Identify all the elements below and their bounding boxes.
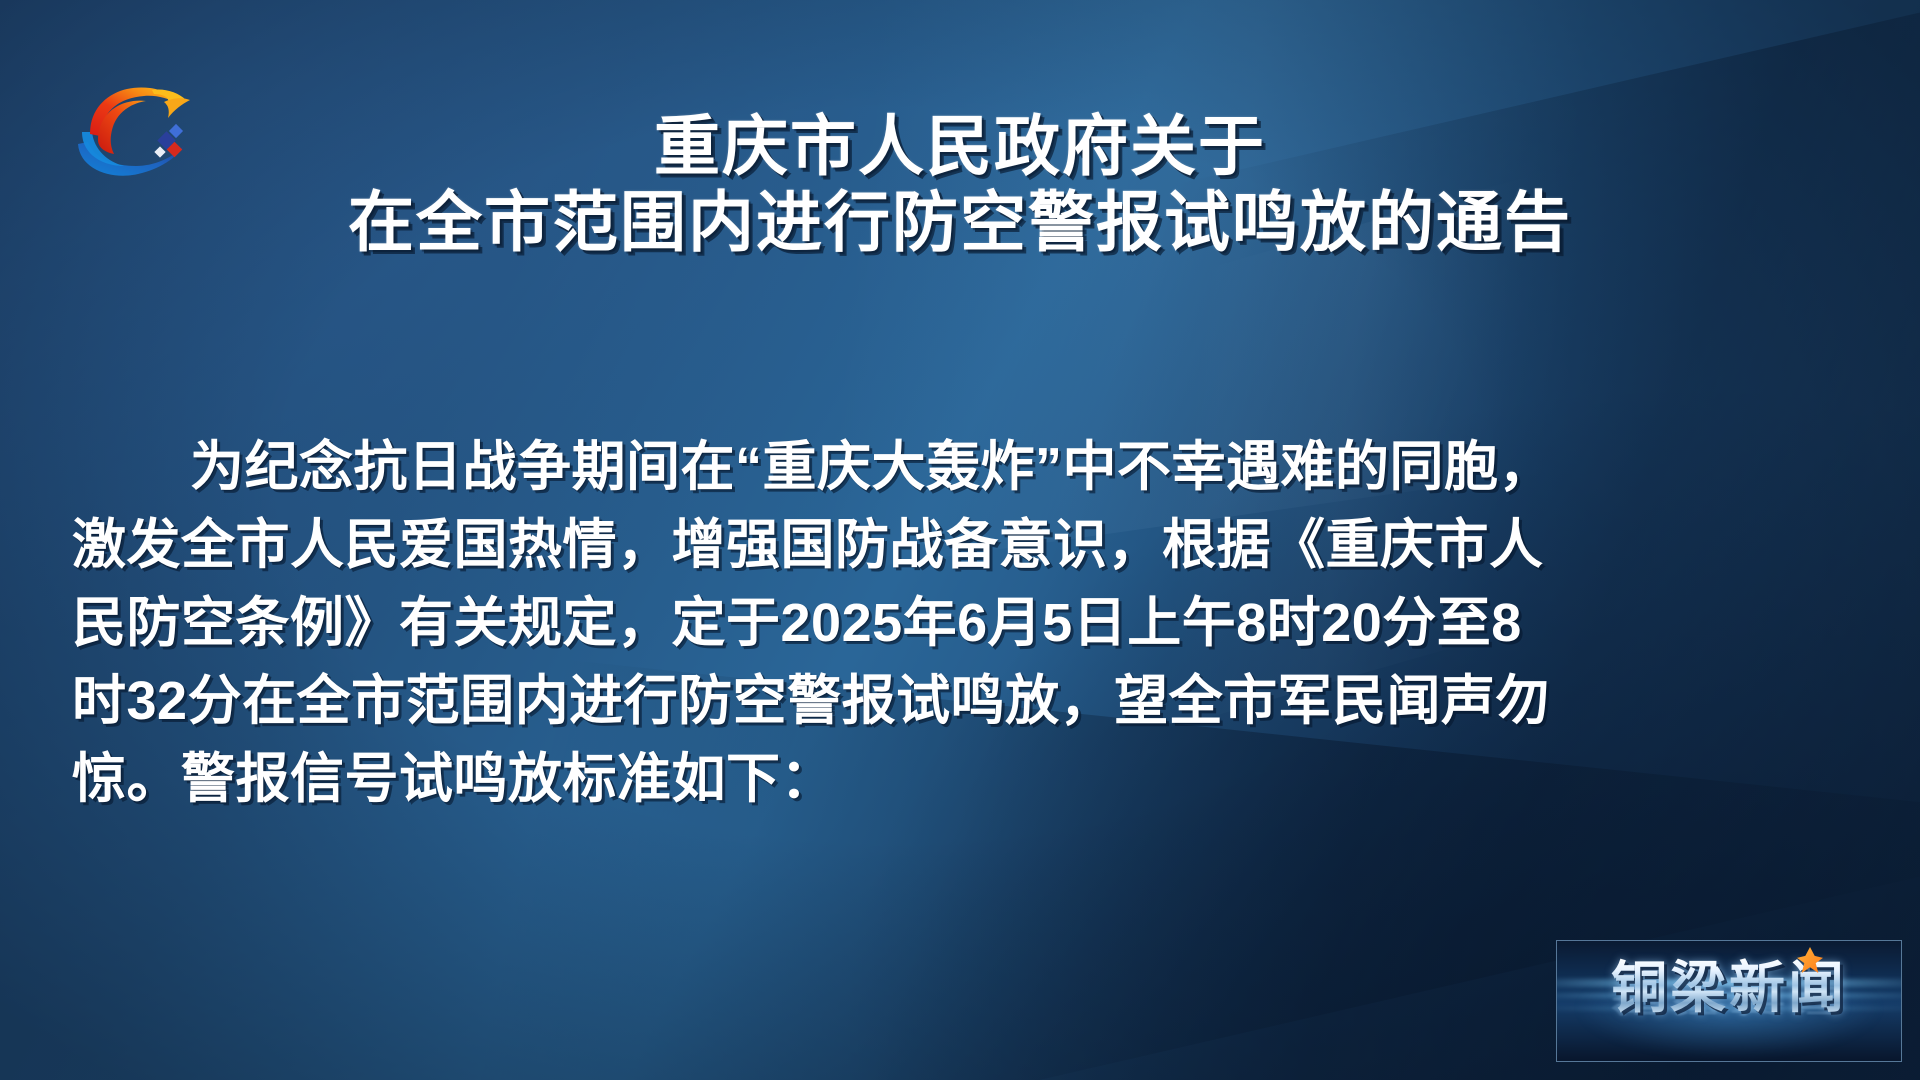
notice-line-4: 时32分在全市范围内进行防空警报试鸣放，望全市军民闻声勿 — [72, 662, 1862, 740]
notice-line-1: 为纪念抗日战争期间在“重庆大轰炸”中不幸遇难的同胞， — [72, 428, 1862, 506]
notice-line-2: 激发全市人民爱国热情，增强国防战备意识，根据《重庆市人 — [72, 506, 1862, 584]
title-line-1: 重庆市人民政府关于 — [0, 108, 1920, 184]
program-bug-label: 铜梁新闻 — [1557, 957, 1901, 1019]
program-bug: 铜梁新闻 铜梁新闻 — [1556, 940, 1902, 1062]
page-title: 重庆市人民政府关于 在全市范围内进行防空警报试鸣放的通告 — [0, 108, 1920, 260]
title-line-2: 在全市范围内进行防空警报试鸣放的通告 — [0, 184, 1920, 260]
broadcast-frame: 重庆市人民政府关于 在全市范围内进行防空警报试鸣放的通告 为纪念抗日战争期间在“… — [0, 0, 1920, 1080]
notice-line-3: 民防空条例》有关规定，定于2025年6月5日上午8时20分至8 — [72, 584, 1862, 662]
notice-body: 为纪念抗日战争期间在“重庆大轰炸”中不幸遇难的同胞， 激发全市人民爱国热情，增强… — [72, 428, 1862, 818]
notice-line-5: 惊。警报信号试鸣放标准如下： — [72, 740, 1862, 818]
